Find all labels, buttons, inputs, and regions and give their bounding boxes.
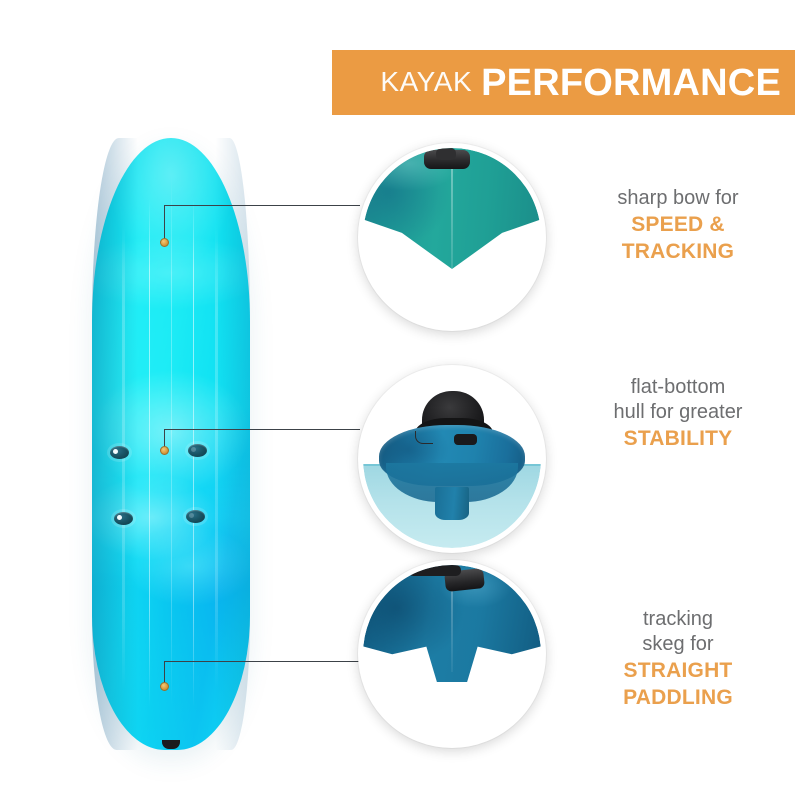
hotspot-marker-dot [160, 682, 169, 691]
caption-text-line: sharp bow for [578, 186, 778, 211]
scupper-hole [110, 446, 129, 459]
caption-emphasis-line: STABILITY [578, 425, 778, 452]
leader-line-stability [164, 429, 360, 453]
detail-image-flat-bottom-hull [363, 370, 541, 548]
stern-carry-handle [454, 434, 477, 445]
leader-line-horizontal [164, 661, 360, 662]
leader-line-straight-paddling [164, 661, 360, 689]
caption-text-line: flat-bottom [578, 375, 778, 400]
leader-line-speed-tracking [164, 205, 360, 245]
detail-circle-flat-bottom-hull [358, 365, 546, 553]
caption-stability: flat-bottom hull for greater STABILITY [578, 375, 778, 452]
bow-center-ridge [451, 159, 453, 280]
caption-emphasis-line: PADDLING [578, 684, 778, 711]
stern-toggle-handle [408, 565, 461, 576]
leader-line-horizontal [164, 205, 360, 206]
hotspot-marker-dot [160, 446, 169, 455]
kayak-keel-line-left [149, 199, 150, 707]
page-title: PERFORMANCE [481, 64, 781, 102]
caption-text-line: skeg for [578, 632, 778, 657]
scupper-hole [114, 512, 133, 525]
bungee-cord [415, 431, 434, 444]
caption-emphasis-line: TRACKING [578, 238, 778, 265]
caption-straight-paddling: tracking skeg for STRAIGHT PADDLING [578, 607, 778, 711]
detail-image-tracking-skeg [363, 565, 541, 743]
kayak-chine-right [215, 224, 218, 689]
detail-circle-sharp-bow [358, 143, 546, 331]
leader-line-vertical [164, 205, 165, 241]
caption-text-line: tracking [578, 607, 778, 632]
hull-skeg [435, 487, 469, 519]
scupper-hole [186, 510, 205, 523]
header-prefix: KAYAK [380, 68, 472, 97]
bow-toggle-handle [436, 148, 456, 160]
kayak-left-shading [92, 138, 146, 750]
caption-text-line: hull for greater [578, 400, 778, 425]
header-banner: KAYAK PERFORMANCE [332, 50, 795, 115]
caption-emphasis-line: SPEED & [578, 211, 778, 238]
leader-line-horizontal [164, 429, 360, 430]
hotspot-marker-dot [160, 238, 169, 247]
caption-emphasis-line: STRAIGHT [578, 657, 778, 684]
caption-speed-tracking: sharp bow for SPEED & TRACKING [578, 186, 778, 265]
detail-image-sharp-bow [363, 148, 541, 326]
detail-circle-tracking-skeg [358, 560, 546, 748]
